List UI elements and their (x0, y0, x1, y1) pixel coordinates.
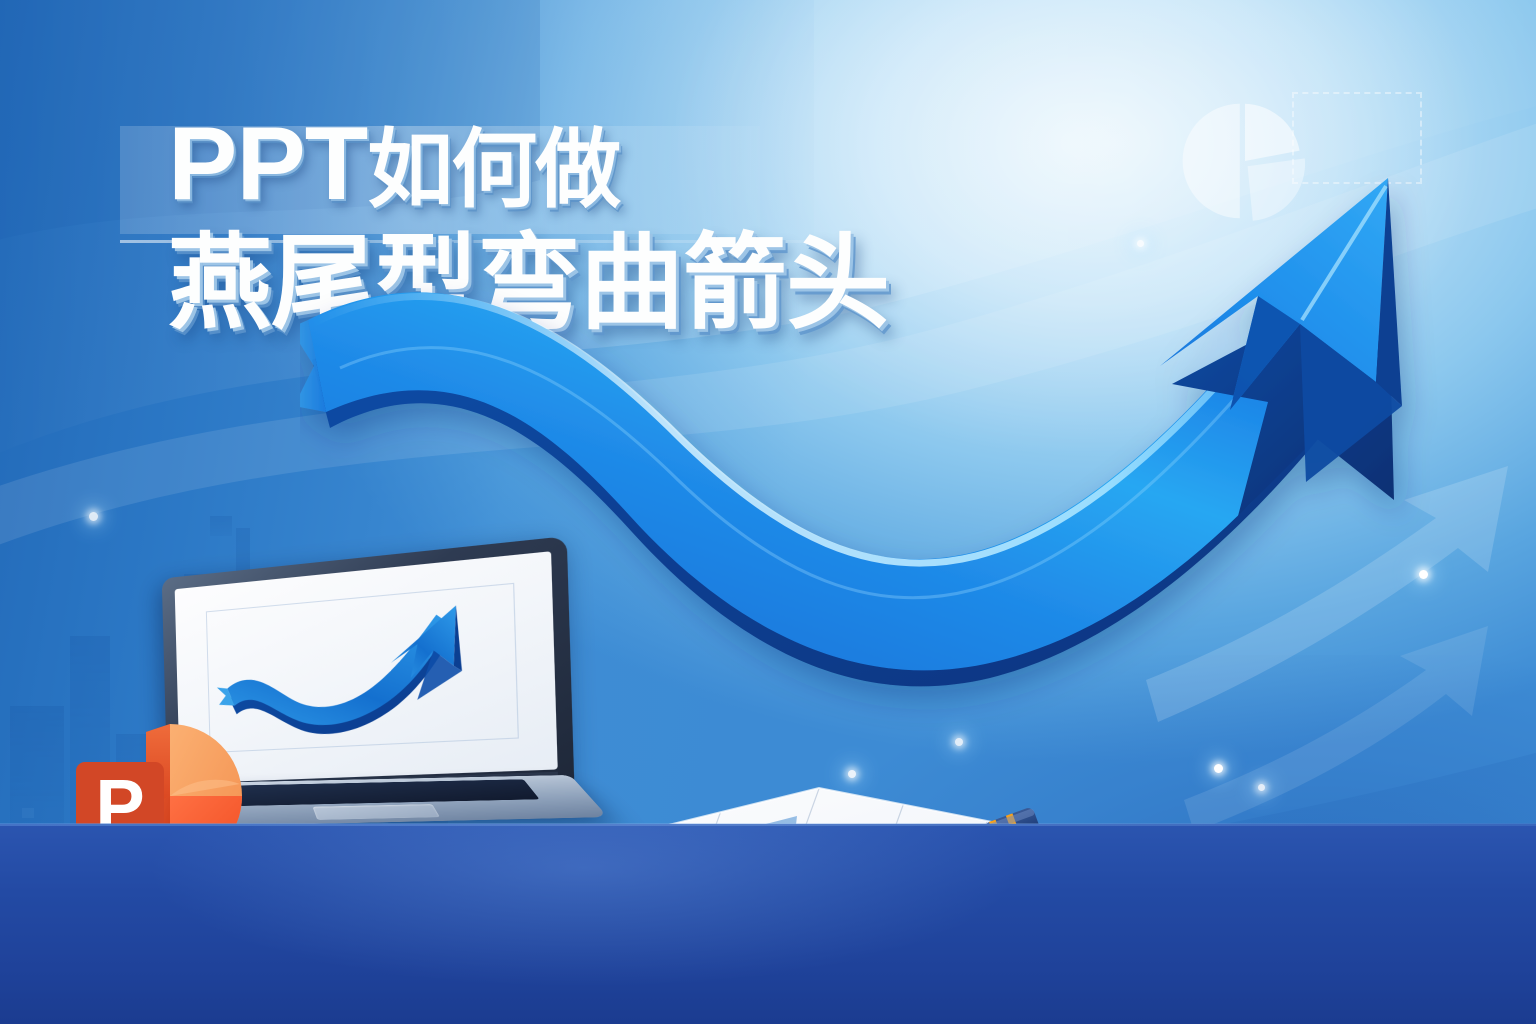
glow-dot (1214, 764, 1223, 773)
glow-dot (1258, 784, 1265, 791)
thumbnail-canvas: PPT如何做 燕尾型弯曲箭头 (0, 0, 1536, 1024)
screen-arrow-top (225, 613, 453, 730)
desk-front-edge (0, 823, 1536, 826)
glow-dot (89, 512, 98, 521)
laptop-trackpad (313, 804, 440, 819)
desk-sheen (0, 824, 1536, 1024)
